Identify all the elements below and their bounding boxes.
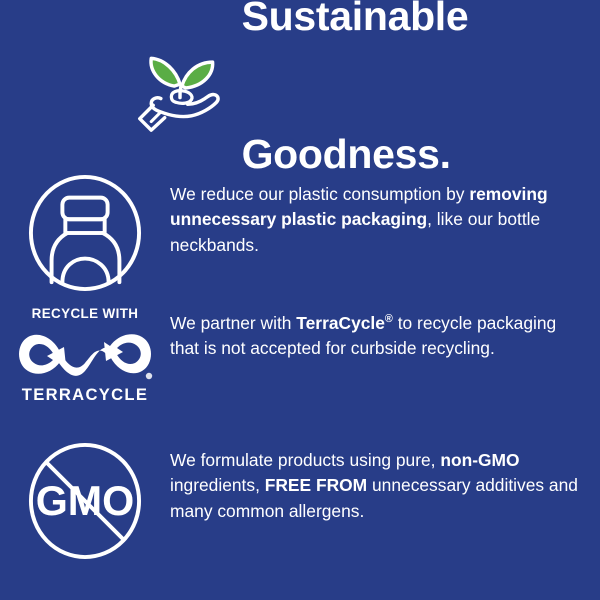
infinity-arrows-icon <box>14 325 156 383</box>
bottle-in-circle-icon <box>27 174 143 297</box>
text-segment-bold: TerraCycle <box>296 313 385 333</box>
no-gmo-icon: GMO <box>27 442 143 565</box>
sustainable-goodness-panel: Sustainable Goodness. We re <box>0 0 600 600</box>
terracycle-bottom-label: TERRACYCLE <box>22 387 148 404</box>
benefit-text-gmo: We formulate products using pure, non-GM… <box>170 440 600 524</box>
header: Sustainable Goodness. <box>0 26 600 146</box>
text-segment-bold: FREE FROM <box>265 475 367 495</box>
benefit-row-plastic: We reduce our plastic consumption by rem… <box>0 172 600 297</box>
text-segment: We formulate products using pure, <box>170 450 440 470</box>
benefit-text-plastic: We reduce our plastic consumption by rem… <box>170 172 600 258</box>
text-segment: We partner with <box>170 313 296 333</box>
registered-mark <box>146 373 152 379</box>
benefit-icon-wrapper: RECYCLE WITH TERRACYCLE <box>0 305 170 404</box>
text-segment-bold: non-GMO <box>440 450 519 470</box>
terracycle-top-label: RECYCLE WITH <box>32 307 139 320</box>
benefit-row-terracycle: RECYCLE WITH TERRACYCLE We partner with … <box>0 305 600 404</box>
text-segment: We reduce our plastic consumption by <box>170 184 469 204</box>
benefit-row-gmo: GMO We formulate products using pure, no… <box>0 440 600 565</box>
text-segment: ingredients, <box>170 475 265 495</box>
page-title-line-1: Sustainable <box>242 0 469 40</box>
no-gmo-label: GMO <box>36 478 135 524</box>
terracycle-logo: RECYCLE WITH TERRACYCLE <box>10 307 160 404</box>
benefit-icon-wrapper <box>0 172 170 297</box>
registered-mark: ® <box>385 313 393 325</box>
page-title-line-2: Goodness. <box>242 132 469 178</box>
benefit-text-terracycle: We partner with TerraCycle® to recycle p… <box>170 305 600 362</box>
hand-holding-sprout-icon <box>132 42 228 134</box>
benefit-icon-wrapper: GMO <box>0 440 170 565</box>
